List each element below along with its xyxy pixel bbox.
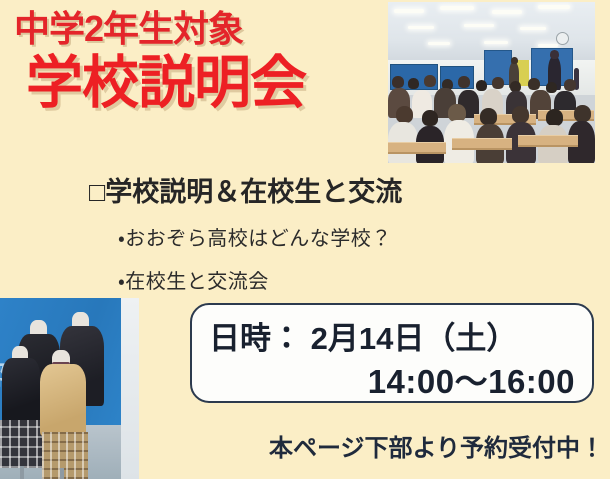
attendee-head (392, 76, 404, 88)
classroom-photo (388, 2, 595, 163)
attendee-head (492, 77, 504, 89)
ceiling-light-icon (520, 27, 546, 30)
ceiling-light-icon (484, 41, 508, 44)
desk (518, 135, 578, 145)
ceiling-light-icon (408, 26, 434, 29)
date-line: 日時： 2月14日（土） (209, 313, 517, 358)
desk (452, 138, 512, 148)
headline-event-title: 学校説明会 (26, 52, 384, 116)
attendee-head (528, 78, 540, 90)
presenter-head (511, 57, 518, 64)
girls-skirt-check-dark (0, 420, 44, 468)
attendee-head (574, 105, 591, 122)
uniform-photo: 院 (0, 298, 139, 479)
ceiling-light-icon (492, 10, 522, 14)
girls-blazer-beige (40, 364, 86, 436)
headline-block: 中学2年生対象 学校説明会 (14, 8, 384, 116)
attendee-head (476, 80, 487, 91)
attendee-head (512, 106, 529, 123)
attendee-head (546, 82, 557, 93)
ceiling-light-icon (464, 24, 494, 27)
girls-blazer-dark (2, 358, 40, 424)
bullet-item-2: ・在校生と交流会 (118, 265, 269, 294)
wall-side-panel (121, 298, 139, 479)
attendee-head (408, 78, 419, 89)
attendee-head (424, 75, 436, 87)
wall-clock-icon (556, 32, 569, 45)
attendee-head (480, 108, 497, 125)
attendee-head (546, 109, 563, 126)
section-subheading: □学校説明＆在校生と交流 (89, 170, 402, 209)
attendee-head (422, 110, 438, 126)
reservation-cta-text: 本ページ下部より予約受付中！ (269, 428, 604, 463)
ceiling-light-icon (538, 5, 570, 9)
mannequin-stand (20, 466, 24, 479)
bullet-item-1: ・おおぞら高校はどんな学校？ (118, 222, 392, 251)
ceiling-light-icon (394, 9, 424, 13)
ceiling-light-icon (538, 44, 558, 47)
girls-skirt-check-beige (42, 432, 88, 479)
school-briefing-banner: 中学2年生対象 学校説明会 (0, 0, 610, 479)
mannequin-stand (60, 468, 64, 479)
attendee-head (458, 76, 470, 88)
desk (388, 142, 446, 152)
presenter-head (550, 50, 559, 59)
attendee-head (564, 79, 576, 91)
ceiling-light-icon (440, 6, 474, 10)
attendee-head (396, 106, 413, 123)
headline-target-grade: 中学2年生対象 (14, 8, 384, 50)
time-line: 14:00〜16:00 (368, 355, 575, 403)
date-time-box: 日時： 2月14日（土） 14:00〜16:00 (190, 303, 594, 403)
ceiling-light-icon (428, 42, 450, 45)
